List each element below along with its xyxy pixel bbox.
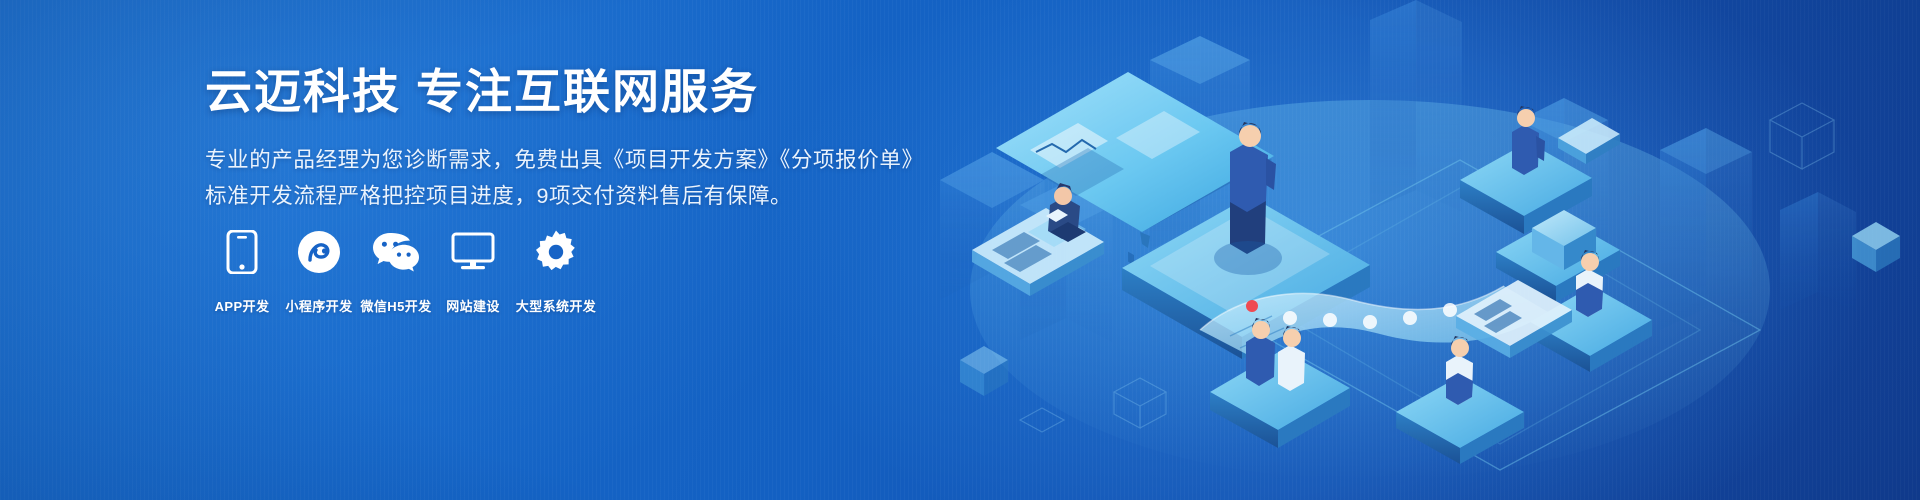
subtitle-line-2: 标准开发流程严格把控项目进度，9项交付资料售后有保障。 xyxy=(205,179,965,214)
service-list: APP开发 小程序开发 xyxy=(205,228,602,315)
banner-subtitle: 专业的产品经理为您诊断需求，免费出具《项目开发方案》《分项报价单》 标准开发流程… xyxy=(205,143,965,214)
service-label-mini-program: 小程序开发 xyxy=(285,296,352,315)
wechat-icon xyxy=(372,228,420,276)
hero-banner: 云迈科技 专注互联网服务 专业的产品经理为您诊断需求，免费出具《项目开发方案》《… xyxy=(0,0,1920,500)
service-label-app: APP开发 xyxy=(215,296,270,315)
page-title: 云迈科技 专注互联网服务 xyxy=(205,64,965,120)
gear-icon xyxy=(532,228,580,276)
service-label-system: 大型系统开发 xyxy=(516,296,596,315)
service-item-app[interactable]: APP开发 xyxy=(205,228,279,315)
service-label-wechat-h5: 微信H5开发 xyxy=(360,296,431,315)
service-item-website[interactable]: 网站建设 xyxy=(436,228,510,315)
monitor-icon xyxy=(449,228,497,276)
banner-content: 云迈科技 专注互联网服务 专业的产品经理为您诊断需求，免费出具《项目开发方案》《… xyxy=(205,64,965,215)
service-item-mini-program[interactable]: 小程序开发 xyxy=(282,228,356,315)
subtitle-line-1: 专业的产品经理为您诊断需求，免费出具《项目开发方案》《分项报价单》 xyxy=(205,143,965,178)
mini-program-icon xyxy=(295,228,343,276)
service-item-wechat-h5[interactable]: 微信H5开发 xyxy=(359,228,433,315)
service-label-website: 网站建设 xyxy=(446,296,500,315)
service-item-system[interactable]: 大型系统开发 xyxy=(513,228,599,315)
illustration-isometric-team-dashboard xyxy=(900,0,1920,500)
smartphone-icon xyxy=(218,228,266,276)
